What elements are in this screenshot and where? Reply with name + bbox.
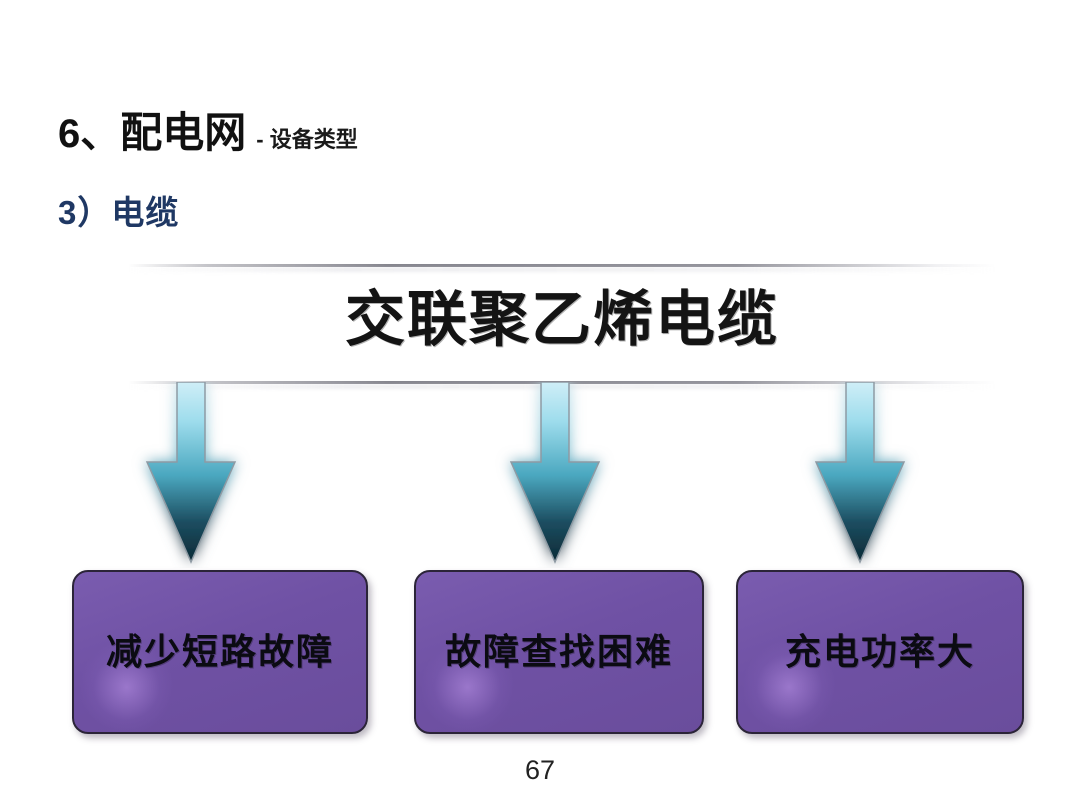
title-subtitle-text: - 设备类型 [256, 129, 357, 151]
result-box-label: 充电功率大 [785, 634, 975, 670]
banner-title: 交联聚乙烯电缆 [128, 286, 996, 353]
down-arrow-icon-1 [131, 382, 251, 568]
banner-rule-top [128, 264, 996, 267]
title-main-text: 配电网 [120, 112, 246, 154]
down-arrow-icon-3 [800, 382, 920, 568]
down-arrow-icon-2 [495, 382, 615, 568]
result-box-3[interactable]: 充电功率大 [736, 570, 1024, 734]
page-title: 6、 配电网 - 设备类型 [58, 112, 358, 154]
result-box-2[interactable]: 故障查找困难 [414, 570, 704, 734]
title-number: 6、 [58, 114, 120, 154]
section-heading: 3）电缆 [58, 196, 179, 229]
banner: 交联聚乙烯电缆 [128, 262, 996, 384]
page-number: 67 [0, 757, 1080, 784]
result-box-label: 减少短路故障 [106, 634, 334, 670]
result-box-1[interactable]: 减少短路故障 [72, 570, 368, 734]
result-box-label: 故障查找困难 [445, 634, 673, 670]
slide-canvas: 6、 配电网 - 设备类型 3）电缆 交联聚乙烯电缆 [0, 0, 1080, 809]
